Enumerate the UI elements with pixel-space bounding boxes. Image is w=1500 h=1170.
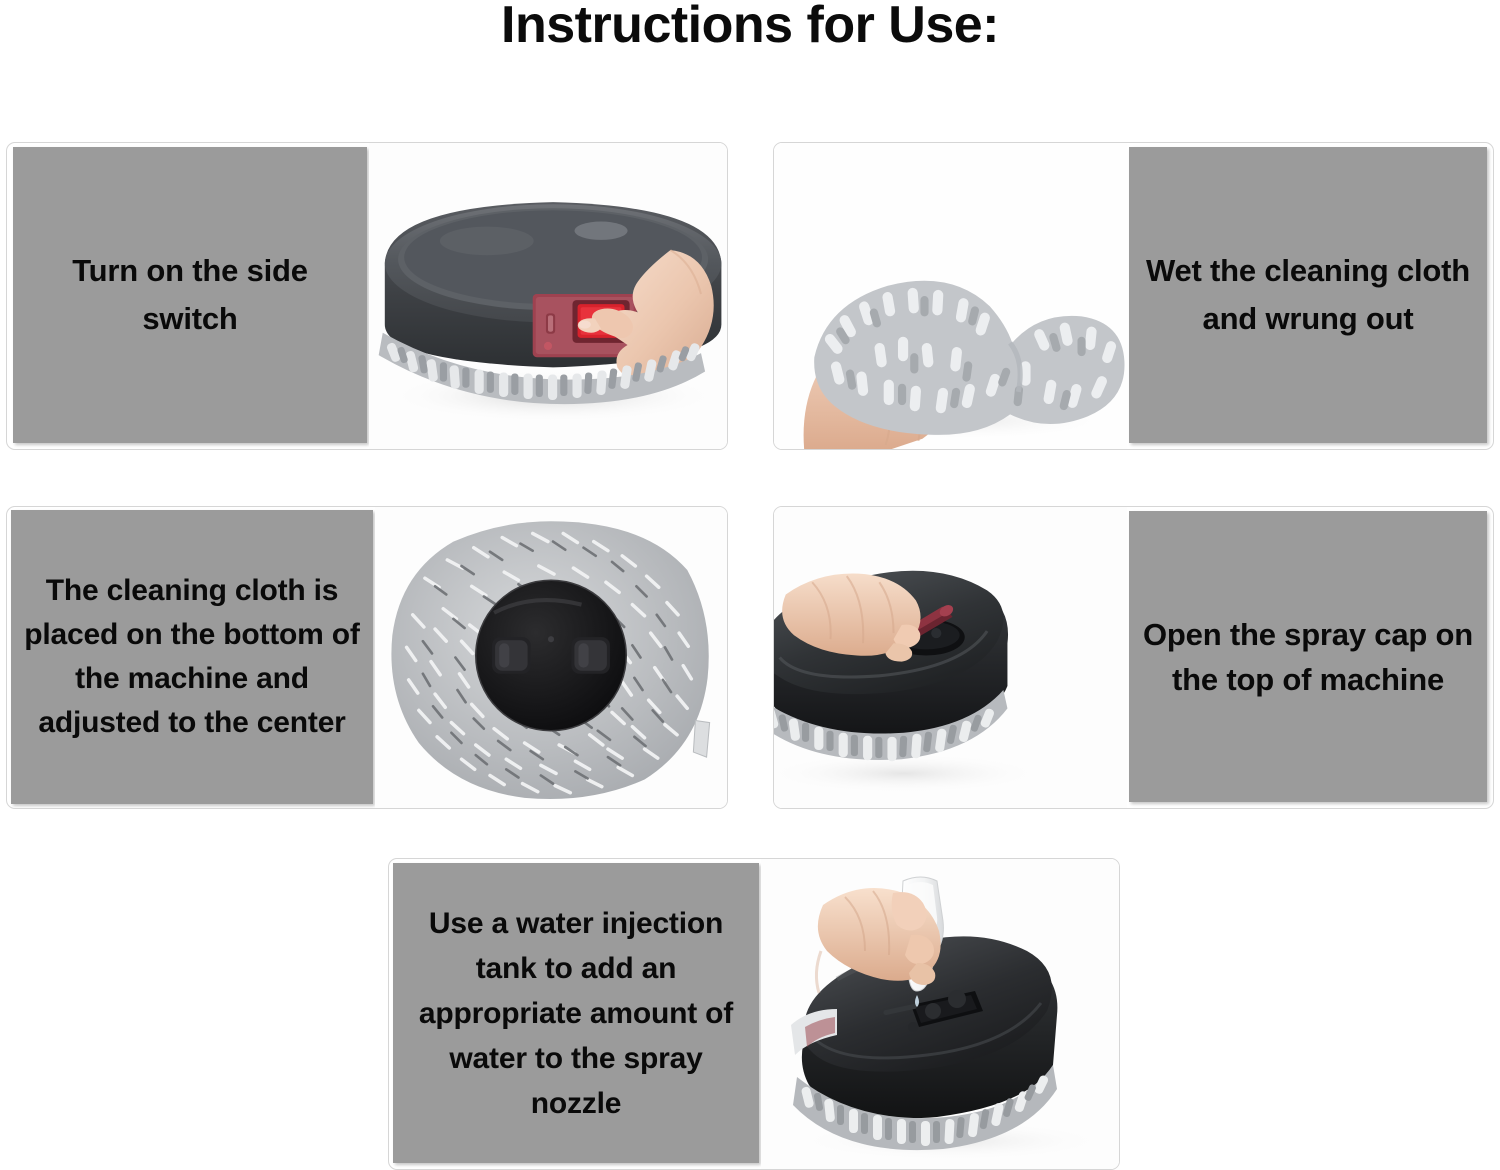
step-5-caption-block: Use a water injection tank to add an app… (389, 859, 761, 1169)
caption-panel: Open the spray cap on the top of machine (1129, 511, 1487, 802)
step-4-caption-block: Open the spray cap on the top of machine (1127, 507, 1493, 808)
caption-panel: Use a water injection tank to add an app… (393, 863, 759, 1163)
instructions-page: Instructions for Use: Turn on the side s… (0, 0, 1500, 1170)
step-1-caption-block: Turn on the side switch (7, 143, 369, 449)
step-5-caption-text: Use a water injection tank to add an app… (403, 901, 749, 1126)
step-card-4: Open the spray cap on the top of machine (773, 506, 1494, 809)
step-3-caption-text: The cleaning cloth is placed on the bott… (21, 569, 363, 745)
water-injection-photo (761, 859, 1119, 1169)
step-card-1: Turn on the side switch (6, 142, 728, 450)
robot-mop-side-switch-photo (369, 143, 727, 449)
open-spray-cap-photo (774, 507, 1127, 808)
step-card-3: The cleaning cloth is placed on the bott… (6, 506, 728, 809)
step-2-caption-text: Wet the cleaning cloth and wrung out (1139, 247, 1477, 343)
step-card-2: Wet the cleaning cloth and wrung out (773, 142, 1494, 450)
caption-panel: The cleaning cloth is placed on the bott… (11, 510, 373, 804)
cloth-on-machine-bottom-photo (375, 507, 727, 808)
page-title: Instructions for Use: (0, 0, 1500, 56)
caption-panel: Turn on the side switch (13, 147, 367, 443)
step-card-5: Use a water injection tank to add an app… (388, 858, 1120, 1170)
wet-cleaning-cloth-photo (774, 143, 1127, 449)
step-1-caption-text: Turn on the side switch (23, 247, 357, 343)
step-4-caption-text: Open the spray cap on the top of machine (1139, 612, 1477, 702)
step-2-caption-block: Wet the cleaning cloth and wrung out (1127, 143, 1493, 449)
caption-panel: Wet the cleaning cloth and wrung out (1129, 147, 1487, 443)
step-3-caption-block: The cleaning cloth is placed on the bott… (7, 507, 375, 808)
